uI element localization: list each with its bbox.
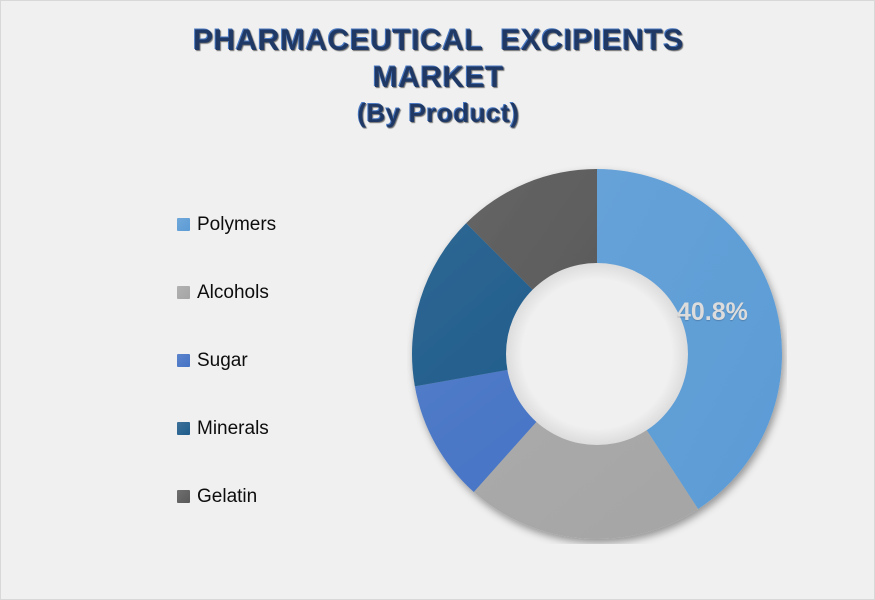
donut-svg: [407, 164, 787, 544]
legend-label: Polymers: [197, 215, 276, 234]
legend-label: Sugar: [197, 351, 248, 370]
legend-item-polymers[interactable]: Polymers: [177, 215, 357, 233]
chart-legend: PolymersAlcoholsSugarMineralsGelatin: [177, 215, 357, 505]
title-line-2: MARKET: [1, 60, 875, 97]
donut-hole: [506, 263, 688, 445]
legend-label: Alcohols: [197, 283, 269, 302]
donut-chart: [407, 164, 787, 544]
title-subtitle: (By Product): [1, 98, 875, 130]
polymers-percent-label: 40.8%: [677, 298, 748, 327]
legend-swatch-icon: [177, 218, 190, 231]
legend-swatch-icon: [177, 422, 190, 435]
legend-item-alcohols[interactable]: Alcohols: [177, 283, 357, 301]
legend-label: Gelatin: [197, 487, 257, 506]
legend-swatch-icon: [177, 354, 190, 367]
legend-item-sugar[interactable]: Sugar: [177, 351, 357, 369]
legend-label: Minerals: [197, 419, 269, 438]
title-line-1: PHARMACEUTICAL EXCIPIENTS: [1, 23, 875, 60]
legend-swatch-icon: [177, 286, 190, 299]
legend-item-gelatin[interactable]: Gelatin: [177, 487, 357, 505]
legend-swatch-icon: [177, 490, 190, 503]
legend-item-minerals[interactable]: Minerals: [177, 419, 357, 437]
chart-canvas: PHARMACEUTICAL EXCIPIENTS MARKET (By Pro…: [0, 0, 875, 600]
chart-title: PHARMACEUTICAL EXCIPIENTS MARKET (By Pro…: [1, 23, 875, 130]
